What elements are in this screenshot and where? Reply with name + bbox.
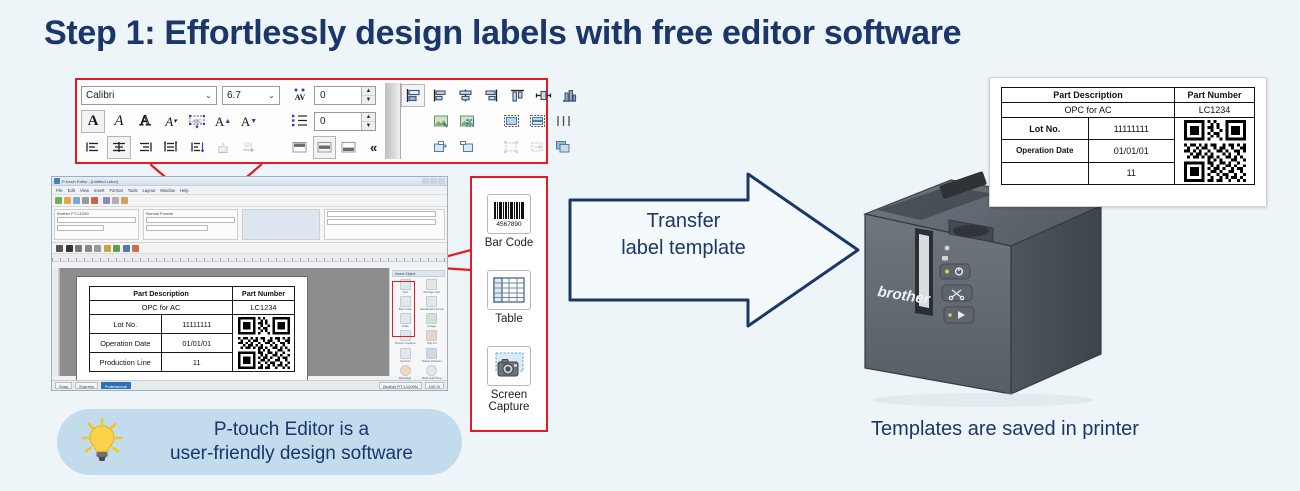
insert-item-label: Arrange Text [423,291,440,294]
vertical-ruler [52,268,59,376]
distribute-vertically-button[interactable] [557,84,581,107]
output-cell-lot-value: 11111111 [1088,118,1175,140]
output-label-table: Part Description Part Number OPC for AC … [1001,87,1255,185]
symbol-icon [400,348,411,359]
edit-image-button[interactable] [455,110,479,133]
stepper-down-icon[interactable]: ▼ [362,96,375,104]
printer-caption: Templates are saved in printer [845,418,1165,441]
power-led [945,270,949,274]
open-icon[interactable] [64,197,71,204]
svg-text:AV: AV [295,93,306,102]
svg-text:123: 123 [244,143,253,149]
callout-label-line2: Capture [489,401,530,413]
align-text-center-button[interactable] [107,136,131,159]
close-icon[interactable] [438,178,445,184]
insert-object-panel-title: Insert Object [392,270,445,277]
screen-capture-icon [487,346,531,386]
output-cell-production-line-label [1002,162,1089,184]
insert-item-label: Image [428,325,436,328]
cell-production-line-value: 11 [161,353,233,372]
barcode-digits: 4567890 [496,221,522,228]
align-objects-right-button[interactable] [479,84,503,107]
editor-title-bar: P-touch Editor - [Untitled Label] [52,177,447,186]
status-zoom-level[interactable]: 100 % [425,382,444,389]
menu-item-insert[interactable]: Insert [94,188,104,193]
editor-window-title: P-touch Editor - [Untitled Label] [62,179,118,184]
toolbar-overflow-button[interactable]: « [362,136,385,159]
printer-shadow [873,393,1093,407]
callout-label-table: Table [495,313,523,326]
window-controls[interactable] [422,178,445,184]
insert-item-label: Serialized Format [420,308,444,311]
font-size-value: 6.7 [227,90,266,101]
increase-font-size-button[interactable]: A▲ [211,110,235,133]
printer-panel-field[interactable] [57,217,136,223]
flip-object-button[interactable] [525,136,549,159]
status-printer-name: Brother PT-L1200N [379,382,421,389]
insert-item-label: Screen Capture [395,342,416,345]
table-row: Lot No. 11111111 [1002,118,1255,140]
qr-code-icon [1184,120,1246,182]
printed-label: Part Description Part Number OPC for AC … [989,77,1267,207]
callout-label-line1: Screen [491,389,527,401]
insert-item-message[interactable]: Message [393,365,418,380]
text-sequence-button[interactable]: 123 [237,136,261,159]
label-template-table: Part Description Part Number OPC for AC … [89,286,295,372]
image-tool-icon[interactable] [104,245,111,252]
callout-item-bar-code[interactable]: 4567890 Bar Code [485,194,534,250]
undo-icon[interactable] [91,197,98,204]
output-cell-production-line-value: 11 [1088,162,1175,184]
menu-item-window[interactable]: Window [160,188,175,193]
fill-object-button[interactable] [525,110,549,133]
align-objects-top-button[interactable] [505,84,529,107]
editor-menu-bar[interactable]: File Edit View Insert Format Tools Layou… [52,186,447,195]
insert-item-clip-art[interactable]: Clip Art [420,330,445,345]
insert-item-symbol[interactable]: Symbol [393,348,418,363]
status-led [945,246,950,251]
app-icon [54,178,60,184]
line-spacing-input[interactable]: 0 ▲ ▼ [314,112,376,131]
new-icon[interactable] [55,197,62,204]
output-header-part-number: Part Number [1175,88,1255,103]
table-row: OPC for AC LC1234 [90,301,295,315]
text-panel-field-2[interactable] [327,219,436,225]
maximize-icon[interactable] [430,178,437,184]
status-tab-express[interactable]: Express [75,382,97,389]
font-name-combo[interactable]: Calibri ⌄ [81,86,217,105]
clipart-icon [426,330,437,341]
label-design-area[interactable]: Part Description Part Number OPC for AC … [76,276,308,388]
insert-image-button[interactable] [429,110,453,133]
editor-canvas[interactable]: Part Description Part Number OPC for AC … [59,268,389,376]
italic-button[interactable]: A [107,110,131,133]
insert-item-status-pictures[interactable]: Status Pictures [420,348,445,363]
text-panel-field[interactable] [327,211,436,217]
preview-panel [242,209,320,240]
bring-to-front-button[interactable] [429,136,453,159]
callout-item-screen-capture[interactable]: Screen Capture [487,346,531,414]
cell-part-number-value: LC1234 [233,301,295,315]
table-icon [487,270,531,310]
ptouch-editor-window[interactable]: P-touch Editor - [Untitled Label] File E… [51,176,448,391]
status-tab-professional[interactable]: Professional [101,382,131,389]
table-row: Part Description Part Number [90,287,295,301]
header-part-description: Part Description [90,287,233,301]
output-cell-part-number: LC1234 [1175,103,1255,118]
menu-item-tools[interactable]: Tools [128,188,138,193]
paper-length-field[interactable] [146,217,235,223]
header-part-number: Part Number [233,287,295,301]
output-header-part-description: Part Description [1002,88,1175,103]
status-tab-snap[interactable]: Snap [55,382,72,389]
insert-object-callout[interactable]: 4567890 Bar Code Table [470,176,548,432]
zoomed-format-toolbar[interactable]: Calibri ⌄ 6.7 ⌄ A A A A▾ [75,78,548,164]
symbol-tool-icon[interactable] [132,245,139,252]
serialized-icon [426,296,437,307]
menu-item-edit[interactable]: Edit [68,188,75,193]
character-spacing-value: 0 [315,90,361,101]
copy-icon[interactable] [112,197,119,204]
output-cell-lot-label: Lot No. [1002,118,1089,140]
callout-item-table[interactable]: Table [487,270,531,326]
feed-led [948,313,952,317]
text-panel[interactable] [324,209,445,240]
line-spacing-icon[interactable] [288,110,312,133]
character-spacing-icon[interactable]: AV [288,84,312,107]
table-tool-icon[interactable] [123,245,130,252]
menu-item-view[interactable]: View [80,188,89,193]
tip-line2: user-friendly design software [170,443,413,464]
character-spacing-input[interactable]: 0 ▲ ▼ [314,86,376,105]
stepper-down-icon[interactable]: ▼ [362,122,375,130]
printer-cutter-dial [953,225,989,237]
cell-production-line-label: Production Line [90,353,162,372]
save-icon[interactable] [73,197,80,204]
toolbar-group-tab [385,83,401,159]
align-text-left-button[interactable] [81,136,105,159]
font-size-combo[interactable]: 6.7 ⌄ [222,86,280,105]
ellipse-tool-icon[interactable] [94,245,101,252]
align-objects-center-button[interactable] [453,84,477,107]
insert-object-panel[interactable]: Insert Object Text Arrange Text Bar Code… [389,268,447,376]
message-icon [400,365,411,376]
align-bottom-button[interactable] [338,136,361,159]
select-tool-icon[interactable] [56,245,63,252]
printer-panel-field-2[interactable] [57,225,104,231]
align-text-justify-button[interactable] [159,136,183,159]
insert-item-arrange-text[interactable]: Arrange Text [420,279,445,294]
printer-panel-label: Brother PT-L1200 [57,211,136,216]
menu-item-layout[interactable]: Layout [143,188,156,193]
line-spacing-value: 0 [315,116,361,127]
image-icon [426,313,437,324]
cell-lot-no-label: Lot No. [90,315,162,334]
arrange-text-icon [426,279,437,290]
cell-operation-date-label: Operation Date [90,334,162,353]
frame-object-button[interactable] [499,110,523,133]
tip-line1: P-touch Editor is a [214,419,369,440]
cut-icon[interactable] [103,197,110,204]
svg-text:ABC: ABC [192,119,202,124]
output-cell-operation-date-label: Operation Date [1002,140,1089,162]
cell-operation-date-value: 01/01/01 [161,334,233,353]
editor-property-panels[interactable]: Brother PT-L1200 Normal Format [52,207,447,243]
printer-panel[interactable]: Brother PT-L1200 [54,209,139,240]
barcode-tool-icon[interactable] [113,245,120,252]
editor-draw-toolbar[interactable] [52,243,447,254]
paper-width-field[interactable] [146,225,208,231]
insert-item-image[interactable]: Image [420,313,445,328]
rect-tool-icon[interactable] [85,245,92,252]
align-objects-left-button[interactable] [401,84,425,107]
slide-canvas: Step 1: Effortlessly design labels with … [0,0,1300,491]
lightbulb-icon [79,416,125,468]
horizontal-ruler [52,254,447,262]
minimize-icon[interactable] [422,178,429,184]
menu-item-format[interactable]: Format [109,188,122,193]
date-time-icon [426,365,437,376]
line-tool-icon[interactable] [75,245,82,252]
text-effects-button[interactable]: A▾ [159,110,183,133]
print-icon[interactable] [82,197,89,204]
paper-panel[interactable]: Normal Format [143,209,238,240]
line-spacing-stepper[interactable]: ▲ ▼ [361,113,375,130]
paper-panel-label: Normal Format [146,211,235,216]
battery-led [942,256,948,261]
callout-label-screen-capture: Screen Capture [489,389,530,414]
chevron-down-icon: ⌄ [266,91,277,100]
align-middle-button[interactable] [313,136,336,159]
output-cell-description: OPC for AC [1002,103,1175,118]
svg-text:12: 12 [220,148,226,153]
menu-item-help[interactable]: Help [180,188,189,193]
table-row: OPC for AC LC1234 [1002,103,1255,118]
cell-part-description-value: OPC for AC [90,301,233,315]
arrow-line2: label template [621,237,746,259]
duplicate-object-button[interactable] [551,136,575,159]
character-spacing-stepper[interactable]: ▲ ▼ [361,87,375,104]
status-pictures-icon [426,348,437,359]
outline-button[interactable]: A [133,110,157,133]
output-cell-operation-date-value: 01/01/01 [1088,140,1175,162]
paste-icon[interactable] [121,197,128,204]
insert-item-date-and-time[interactable]: Date and Time [420,365,445,380]
decrease-font-size-button[interactable]: A▼ [237,110,261,133]
align-text-right-button[interactable] [133,136,157,159]
group-columns-button[interactable] [551,110,575,133]
text-numbering-button[interactable]: A 12 [211,136,235,159]
align-top-button[interactable] [288,136,311,159]
tip-text: P-touch Editor is a user-friendly design… [139,418,462,467]
callout-label-bar-code: Bar Code [485,237,534,250]
editor-standard-toolbar[interactable] [52,195,447,207]
tip-callout: P-touch Editor is a user-friendly design… [57,409,462,475]
stepper-up-icon[interactable]: ▲ [362,87,375,96]
bold-button[interactable]: A [81,110,105,133]
stepper-up-icon[interactable]: ▲ [362,113,375,122]
menu-item-file[interactable]: File [56,188,63,193]
barcode-icon: 4567890 [487,194,531,234]
table-row: Lot No. 11111111 [90,315,295,334]
insert-item-label: Clip Art [427,342,437,345]
chevron-down-icon: ⌄ [203,91,214,100]
output-qr-cell [1175,118,1255,185]
align-objects-left-2-button[interactable] [427,84,451,107]
insert-item-serialized-format[interactable]: Serialized Format [420,296,445,311]
qr-code-cell [233,315,295,372]
rotate-object-button[interactable] [499,136,523,159]
page-title: Step 1: Effortlessly design labels with … [44,14,961,53]
insert-object-highlight-box [392,281,415,337]
cell-lot-no-value: 11111111 [161,315,233,334]
insert-item-label: Status Pictures [422,360,442,363]
text-direction-button[interactable] [185,136,209,159]
table-row: Part Description Part Number [1002,88,1255,103]
transfer-arrow-text: Transfer label template [596,208,771,262]
distribute-horizontally-button[interactable] [531,84,555,107]
text-tool-icon[interactable] [66,245,73,252]
font-name-value: Calibri [86,90,203,101]
insert-item-label: Symbol [400,360,410,363]
arrow-line1: Transfer [647,210,721,232]
qr-code-icon [238,317,290,369]
editor-status-bar[interactable]: Snap Express Professional Brother PT-L12… [52,380,447,390]
send-to-back-button[interactable] [455,136,479,159]
auto-fit-text-button[interactable]: ABC [185,110,209,133]
